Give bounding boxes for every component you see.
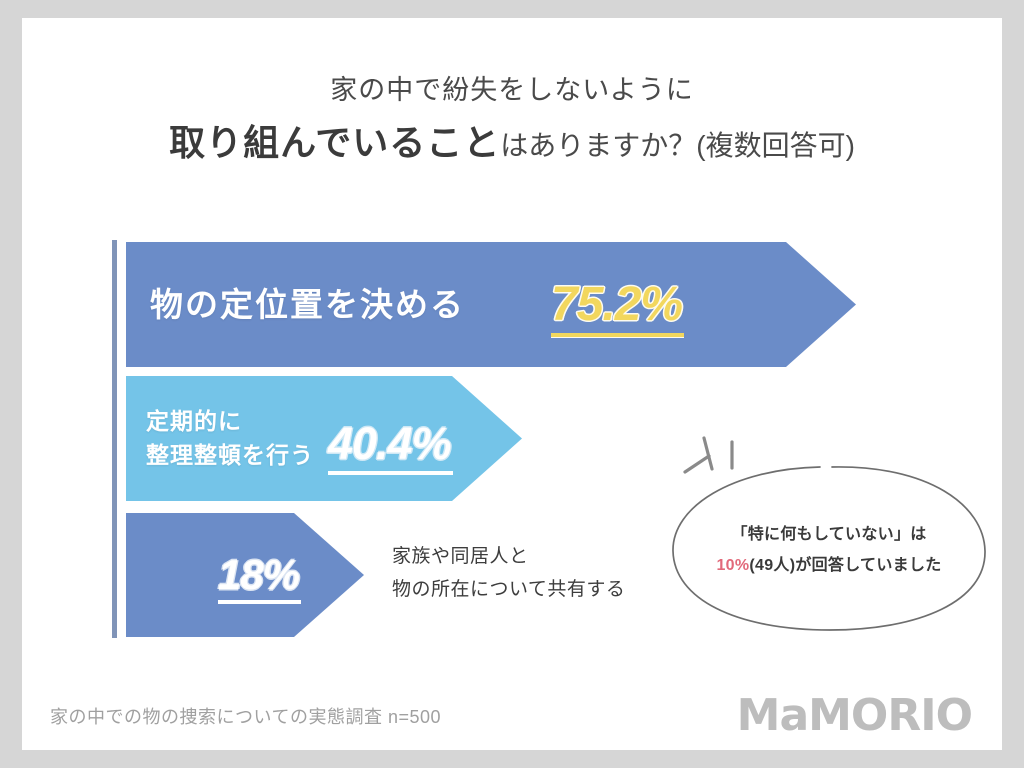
callout-percent: 10% (716, 557, 749, 574)
bar-label-3-line2: 物の所在について共有する (392, 573, 625, 606)
callout-line-2-rest: (49人)が回答していました (749, 557, 941, 574)
bar-value-1: 75.2% (551, 277, 682, 332)
title-line-2: 取り組んでいることはありますか？(複数回答可) (22, 120, 1002, 169)
slide-canvas: 家の中で紛失をしないように 取り組んでいることはありますか？(複数回答可) 物の… (22, 18, 1002, 750)
page-title: 家の中で紛失をしないように 取り組んでいることはありますか？(複数回答可) (22, 74, 1002, 169)
callout-bubble: 「特に何もしていない」は 10%(49人)が回答していました (670, 463, 988, 633)
title-emphasis: 取り組んでいること (169, 120, 500, 169)
bar-label-3: 家族や同居人と 物の所在について共有する (392, 540, 625, 607)
bar-item-2: 定期的に整理整頓を行う 40.4% (126, 376, 522, 501)
bar-value-2: 40.4% (328, 418, 451, 470)
bar-item-1: 物の定位置を決める 75.2% (126, 242, 856, 367)
title-remainder: はありますか？(複数回答可) (500, 130, 855, 161)
callout-line-1: 「特に何もしていない」は (670, 519, 988, 550)
bar-label-2: 定期的に整理整頓を行う (146, 405, 314, 472)
bar-label-2-line2: 整理整頓を行う (146, 442, 314, 468)
bar-label-1: 物の定位置を決める (150, 281, 465, 329)
bar-label-2-line1: 定期的に (146, 408, 242, 434)
chart-axis-line (112, 240, 117, 638)
callout-line-2: 10%(49人)が回答していました (670, 550, 988, 581)
mamorio-logo: MaMORIO (737, 690, 972, 741)
survey-source-note: 家の中での物の捜索についての実態調査 n=500 (50, 703, 441, 729)
title-line-1: 家の中で紛失をしないように (22, 74, 1002, 108)
callout-text: 「特に何もしていない」は 10%(49人)が回答していました (670, 519, 988, 581)
bar-value-3: 18% (218, 551, 299, 599)
bar-label-3-line1: 家族や同居人と (392, 540, 625, 573)
bar-item-3: 18% (126, 513, 364, 637)
